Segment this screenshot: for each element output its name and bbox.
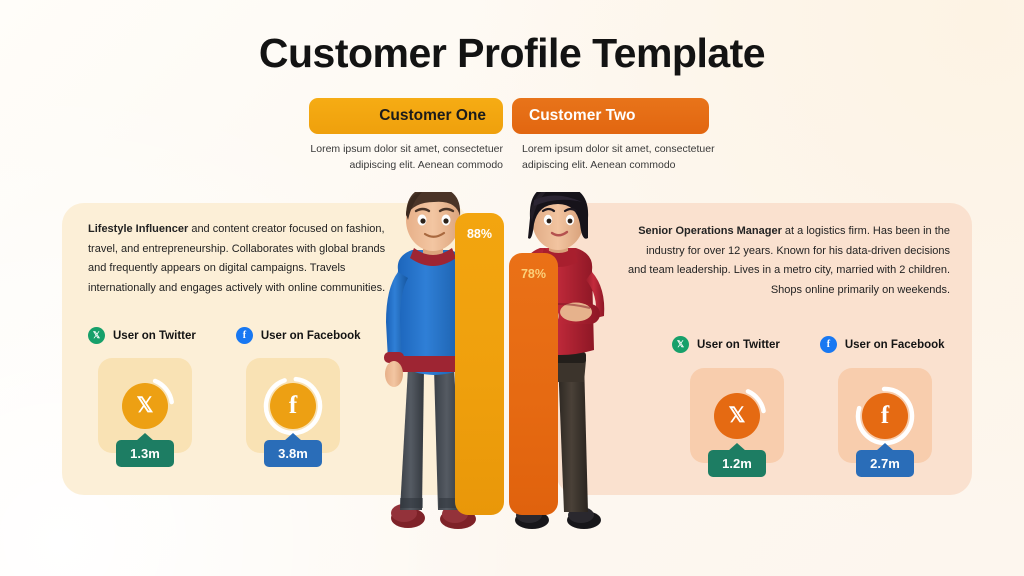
facebook-icon: f xyxy=(236,327,253,344)
social-chip-facebook-customer-one[interactable]: f User on Facebook xyxy=(236,327,361,344)
twitter-x-icon: 𝕏 xyxy=(88,327,105,344)
tab-customer-one-subtitle: Lorem ipsum dolor sit amet, consectetuer… xyxy=(283,141,503,173)
stat-value-text: 2.7m xyxy=(870,456,900,471)
profile-headline-customer-two: Senior Operations Manager xyxy=(638,225,782,237)
stat-value-text: 1.3m xyxy=(130,446,160,461)
social-label-row-customer-one: 𝕏 User on Twitter f User on Facebook xyxy=(88,327,401,344)
facebook-icon: f xyxy=(862,393,908,439)
facebook-icon: f xyxy=(270,383,316,429)
social-chip-twitter-customer-two[interactable]: 𝕏 User on Twitter xyxy=(672,336,780,353)
social-label-facebook-customer-two: User on Facebook xyxy=(845,339,945,351)
profile-description-customer-two: Senior Operations Manager at a logistics… xyxy=(628,222,950,300)
progress-ring-facebook-customer-two: f xyxy=(855,386,915,446)
social-label-twitter-customer-one: User on Twitter xyxy=(113,330,196,342)
percentage-bar-customer-two: 78% xyxy=(509,253,558,515)
stat-value-twitter-customer-one: 1.3m xyxy=(116,440,174,467)
social-label-twitter-customer-two: User on Twitter xyxy=(697,339,780,351)
twitter-x-icon: 𝕏 xyxy=(122,383,168,429)
percentage-label-customer-two: 78% xyxy=(509,267,558,281)
social-chip-twitter-customer-one[interactable]: 𝕏 User on Twitter xyxy=(88,327,196,344)
stat-value-facebook-customer-two: 2.7m xyxy=(856,450,914,477)
social-chip-facebook-customer-two[interactable]: f User on Facebook xyxy=(820,336,945,353)
social-label-facebook-customer-one: User on Facebook xyxy=(261,330,361,342)
tab-customer-two-subtitle: Lorem ipsum dolor sit amet, consectetuer… xyxy=(522,141,742,173)
stat-value-facebook-customer-one: 3.8m xyxy=(264,440,322,467)
slide-canvas: Customer Profile Template Customer One C… xyxy=(0,0,1024,576)
tab-customer-one-label: Customer One xyxy=(379,107,486,125)
tab-customer-two-label: Customer Two xyxy=(529,107,636,125)
stat-value-text: 3.8m xyxy=(278,446,308,461)
percentage-bar-customer-one: 88% xyxy=(455,213,504,515)
stat-value-twitter-customer-two: 1.2m xyxy=(708,450,766,477)
progress-ring-twitter-customer-two: 𝕏 xyxy=(707,386,767,446)
social-label-row-customer-two: 𝕏 User on Twitter f User on Facebook xyxy=(672,336,985,353)
progress-ring-twitter-customer-one: 𝕏 xyxy=(115,376,175,436)
twitter-x-icon: 𝕏 xyxy=(714,393,760,439)
profile-description-customer-one: Lifestyle Influencer and content creator… xyxy=(88,220,388,298)
profile-headline-customer-one: Lifestyle Influencer xyxy=(88,223,188,235)
tab-customer-one[interactable]: Customer One xyxy=(309,98,503,134)
stat-value-text: 1.2m xyxy=(722,456,752,471)
tab-customer-two[interactable]: Customer Two xyxy=(512,98,709,134)
page-title: Customer Profile Template xyxy=(0,30,1024,77)
twitter-x-icon: 𝕏 xyxy=(672,336,689,353)
progress-ring-facebook-customer-one: f xyxy=(263,376,323,436)
percentage-label-customer-one: 88% xyxy=(455,227,504,241)
facebook-icon: f xyxy=(820,336,837,353)
